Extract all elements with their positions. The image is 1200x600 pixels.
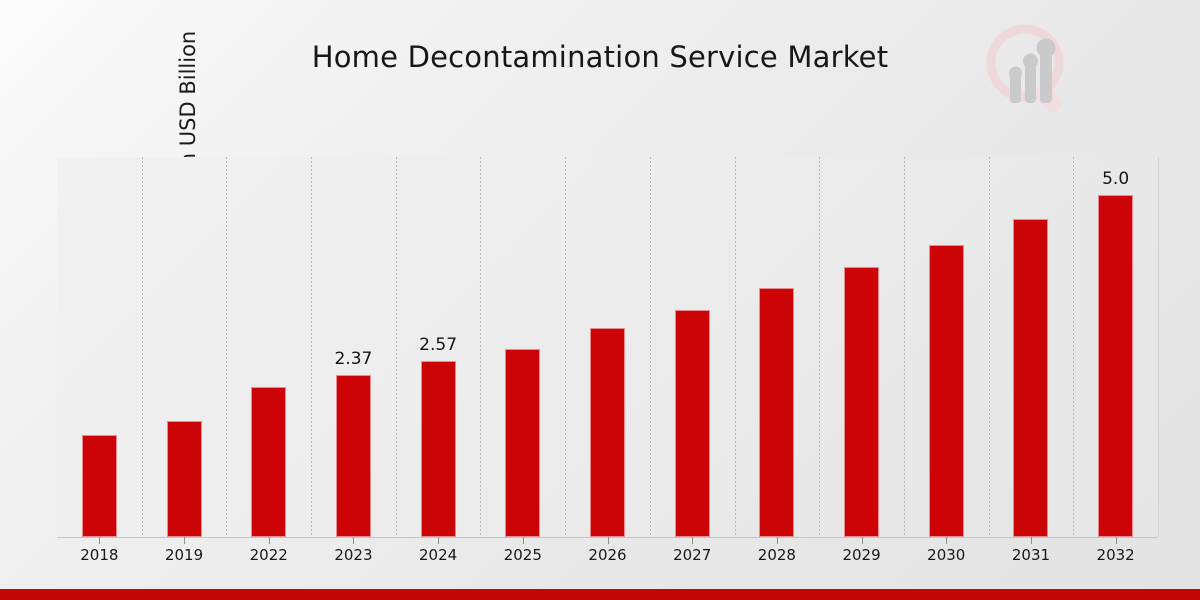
footer-accent-bar <box>0 589 1200 600</box>
market-research-magnifier-logo <box>978 18 1082 122</box>
bar-value-label-2023: 2.37 <box>313 349 393 369</box>
x-axis-label-2027: 2027 <box>652 546 732 564</box>
x-axis-tick <box>862 537 863 544</box>
bar-2028[interactable] <box>759 288 794 537</box>
x-axis-tick <box>269 537 270 544</box>
bar-2030[interactable] <box>929 245 964 537</box>
x-axis-label-2018: 2018 <box>59 546 139 564</box>
grid-line <box>565 157 566 537</box>
bar-2026[interactable] <box>590 328 625 538</box>
bar-2019[interactable] <box>167 421 202 537</box>
bar-2029[interactable] <box>844 267 879 537</box>
bar-2025[interactable] <box>505 349 540 537</box>
x-axis-label-2025: 2025 <box>483 546 563 564</box>
grid-line <box>480 157 481 537</box>
x-axis-label-2026: 2026 <box>568 546 648 564</box>
x-axis-label-2031: 2031 <box>991 546 1071 564</box>
x-axis-tick <box>353 537 354 544</box>
grid-line <box>819 157 820 537</box>
x-axis-tick <box>692 537 693 544</box>
x-axis-tick <box>438 537 439 544</box>
bar-value-label-2024: 2.57 <box>398 335 478 355</box>
grid-line <box>396 157 397 537</box>
grid-line <box>226 157 227 537</box>
chart-container: Home Decontamination Service Market Mark… <box>0 0 1200 600</box>
bar-2023[interactable] <box>336 375 371 537</box>
bar-2031[interactable] <box>1013 219 1048 537</box>
grid-line <box>311 157 312 537</box>
x-axis-tick <box>608 537 609 544</box>
y-axis-title: Market Value in USD Billion <box>0 0 34 191</box>
x-axis-tick <box>523 537 524 544</box>
bar-2018[interactable] <box>82 435 117 537</box>
x-axis-tick <box>99 537 100 544</box>
bar-2024[interactable] <box>421 361 456 537</box>
grid-line <box>650 157 651 537</box>
x-axis-label-2032: 2032 <box>1076 546 1156 564</box>
x-axis-label-2028: 2028 <box>737 546 817 564</box>
x-axis-tick <box>1031 537 1032 544</box>
x-axis-label-2029: 2029 <box>822 546 902 564</box>
bar-2027[interactable] <box>675 310 710 537</box>
grid-line <box>142 157 143 537</box>
grid-line <box>735 157 736 537</box>
x-axis-label-2022: 2022 <box>229 546 309 564</box>
grid-line <box>904 157 905 537</box>
x-axis-tick <box>184 537 185 544</box>
grid-line <box>1073 157 1074 537</box>
x-axis-label-2023: 2023 <box>313 546 393 564</box>
bar-value-label-2032: 5.0 <box>1076 169 1156 189</box>
x-axis-label-2024: 2024 <box>398 546 478 564</box>
bar-2032[interactable] <box>1098 195 1133 537</box>
x-axis-tick <box>1116 537 1117 544</box>
x-axis-tick <box>946 537 947 544</box>
x-axis-label-2030: 2030 <box>906 546 986 564</box>
x-axis-tick <box>777 537 778 544</box>
x-axis-label-2019: 2019 <box>144 546 224 564</box>
grid-line <box>989 157 990 537</box>
bar-2022[interactable] <box>251 387 286 537</box>
